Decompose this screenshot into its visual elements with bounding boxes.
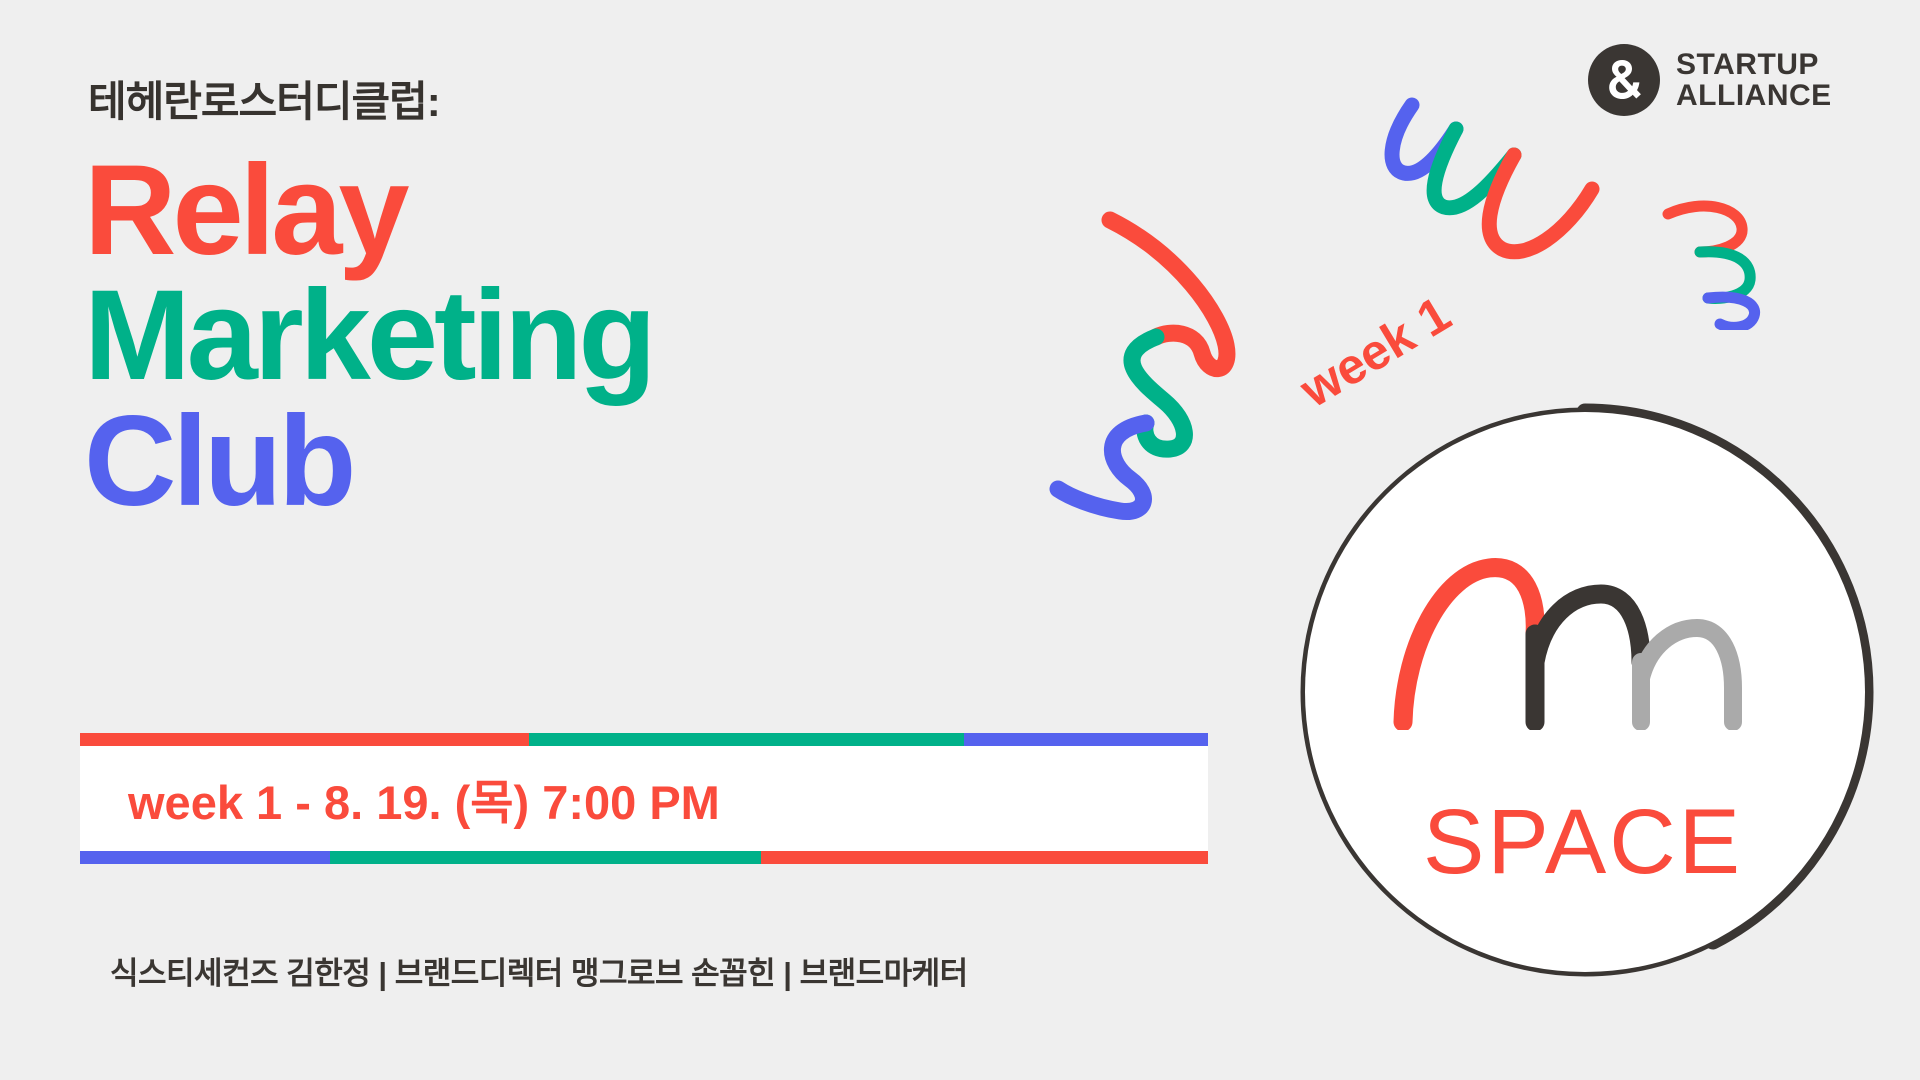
stripe-bottom: [80, 851, 1208, 864]
date-bar-text: week 1 - 8. 19. (목) 7:00 PM: [128, 764, 720, 833]
ampersand-icon: [1588, 44, 1660, 116]
title-line-marketing: Marketing: [84, 273, 653, 398]
squiggle-spiral-right-icon: [1660, 190, 1830, 335]
date-bar-body: week 1 - 8. 19. (목) 7:00 PM: [80, 746, 1208, 851]
sponsor-logo-line1: STARTUP: [1676, 49, 1832, 80]
sponsor-logo: STARTUP ALLIANCE: [1588, 44, 1832, 116]
speaker-list: 식스티세컨즈 김한정 | 브랜드디렉터 맹그로브 손꼽힌 | 브랜드마케터: [110, 948, 968, 993]
subtitle-korean: 테헤란로스터디클럽:: [88, 68, 440, 129]
venue-badge-label: SPACE: [1293, 790, 1873, 895]
title-line-club: Club: [84, 399, 653, 524]
stripe-top-segment-blue: [964, 733, 1208, 746]
stripe-bottom-segment-red: [761, 851, 1208, 864]
sponsor-logo-wordmark: STARTUP ALLIANCE: [1676, 49, 1832, 111]
venue-badge: SPACE: [1293, 400, 1883, 990]
squiggle-zigzag-left-icon: [1030, 185, 1330, 540]
stripe-bottom-segment-teal: [330, 851, 761, 864]
week-tag: week 1: [1290, 285, 1460, 419]
poster-canvas: 테헤란로스터디클럽: Relay Marketing Club week 1 -…: [0, 0, 1920, 1080]
title-line-relay: Relay: [84, 148, 653, 273]
stripe-top: [80, 733, 1208, 746]
sponsor-logo-line2: ALLIANCE: [1676, 80, 1832, 111]
page-title: Relay Marketing Club: [84, 148, 653, 524]
stripe-top-segment-teal: [529, 733, 964, 746]
maru-m-icon: [1385, 550, 1785, 735]
date-bar: week 1 - 8. 19. (목) 7:00 PM: [80, 733, 1208, 864]
stripe-top-segment-red: [80, 733, 529, 746]
stripe-bottom-segment-blue: [80, 851, 330, 864]
